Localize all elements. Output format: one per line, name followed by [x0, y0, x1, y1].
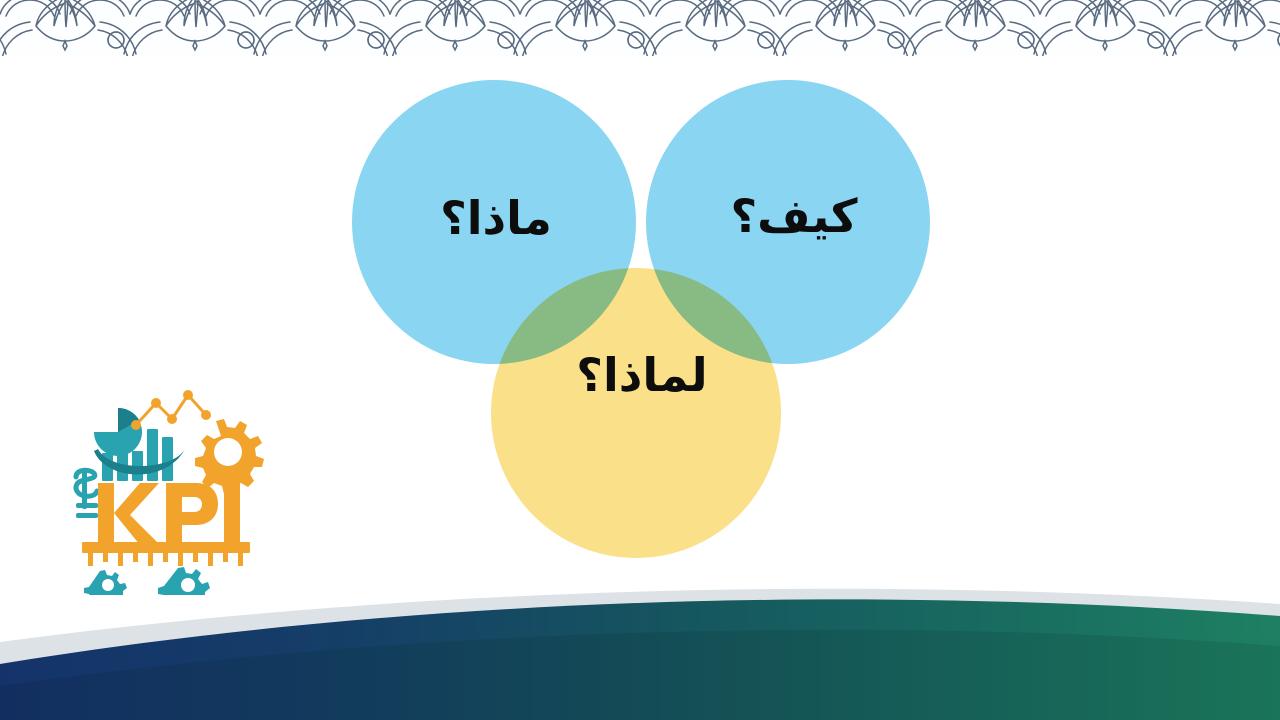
dollar-sign-icon	[76, 469, 98, 518]
decorative-wave	[0, 560, 1280, 720]
slide-canvas: ماذا؟ كيف؟ لماذا؟	[0, 0, 1280, 720]
wave-graphic	[0, 560, 1280, 720]
venn-label-why: لماذا؟	[576, 352, 707, 398]
kpi-wordmark	[98, 483, 240, 545]
decorative-floral-border	[0, 0, 1280, 58]
venn-circle-why[interactable]: لماذا؟	[491, 268, 781, 558]
line-graph-nodes	[131, 390, 211, 430]
floral-border-pattern	[0, 0, 1280, 58]
gear-icon	[195, 419, 264, 494]
border-baseline	[0, 56, 1280, 58]
venn-label-how: كيف؟	[731, 193, 858, 239]
venn-diagram: ماذا؟ كيف؟ لماذا؟	[350, 78, 934, 564]
venn-label-what: ماذا؟	[440, 195, 552, 241]
